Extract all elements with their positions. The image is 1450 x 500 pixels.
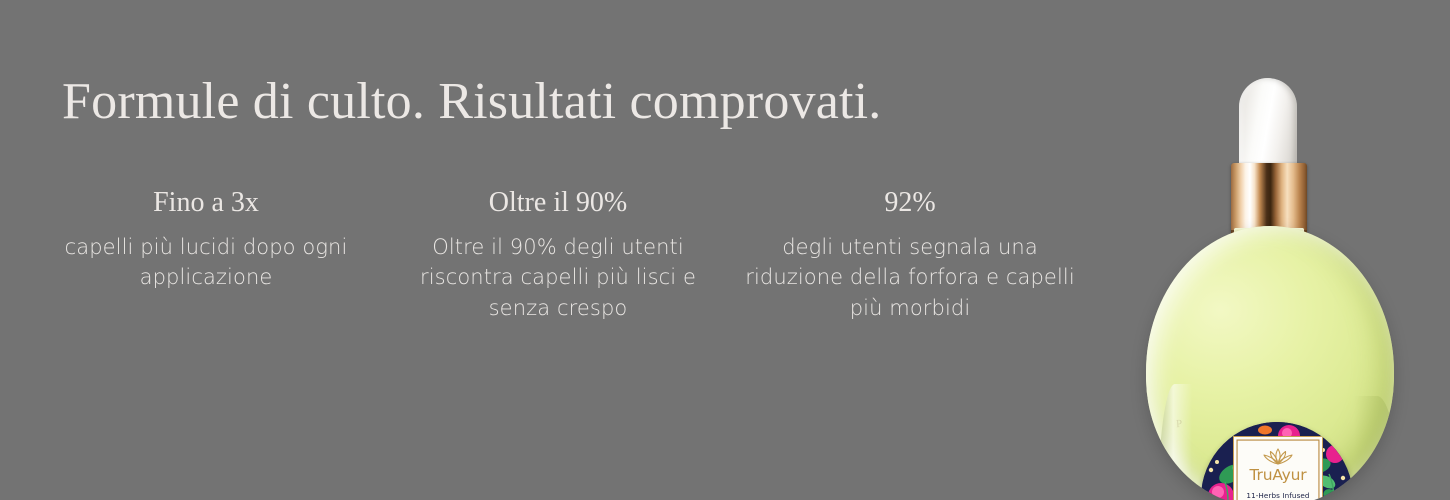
stat-value: Fino a 3x — [38, 185, 374, 220]
bottle-collar — [1231, 163, 1307, 235]
ghost-text: P — [1176, 418, 1183, 430]
dropper-bulb — [1239, 78, 1297, 170]
lotus-icon — [1258, 446, 1298, 466]
stat-description: degli utenti segnala una riduzione della… — [742, 232, 1078, 323]
glass-highlight-left — [1158, 384, 1192, 500]
bottle-glass-body: P — [1146, 226, 1394, 500]
stat-card-3: 92% degli utenti segnala una riduzione d… — [734, 185, 1086, 323]
stats-row: Fino a 3x capelli più lucidi dopo ogni a… — [30, 185, 1130, 323]
page-title: Formule di culto. Risultati comprovati. — [62, 72, 882, 132]
product-bottle-image: P — [1138, 78, 1400, 500]
stat-value: Oltre il 90% — [390, 185, 726, 220]
brand-name: TruAyur — [1250, 468, 1307, 484]
label-inner-panel: TruAyur 11-Herbs Infused HAIR SERUM 60ml… — [1233, 436, 1323, 500]
stat-card-2: Oltre il 90% Oltre il 90% degli utenti r… — [382, 185, 734, 323]
stat-value: 92% — [742, 185, 1078, 220]
glass-shadow-right — [1354, 396, 1394, 500]
stat-description: capelli più lucidi dopo ogni applicazion… — [38, 232, 374, 293]
product-label: TruAyur 11-Herbs Infused HAIR SERUM 60ml… — [1201, 422, 1353, 500]
stat-card-1: Fino a 3x capelli più lucidi dopo ogni a… — [30, 185, 382, 293]
promo-banner: Formule di culto. Risultati comprovati. … — [0, 0, 1450, 500]
stat-description: Oltre il 90% degli utenti riscontra cape… — [390, 232, 726, 323]
label-subtitle: 11-Herbs Infused — [1246, 491, 1309, 500]
